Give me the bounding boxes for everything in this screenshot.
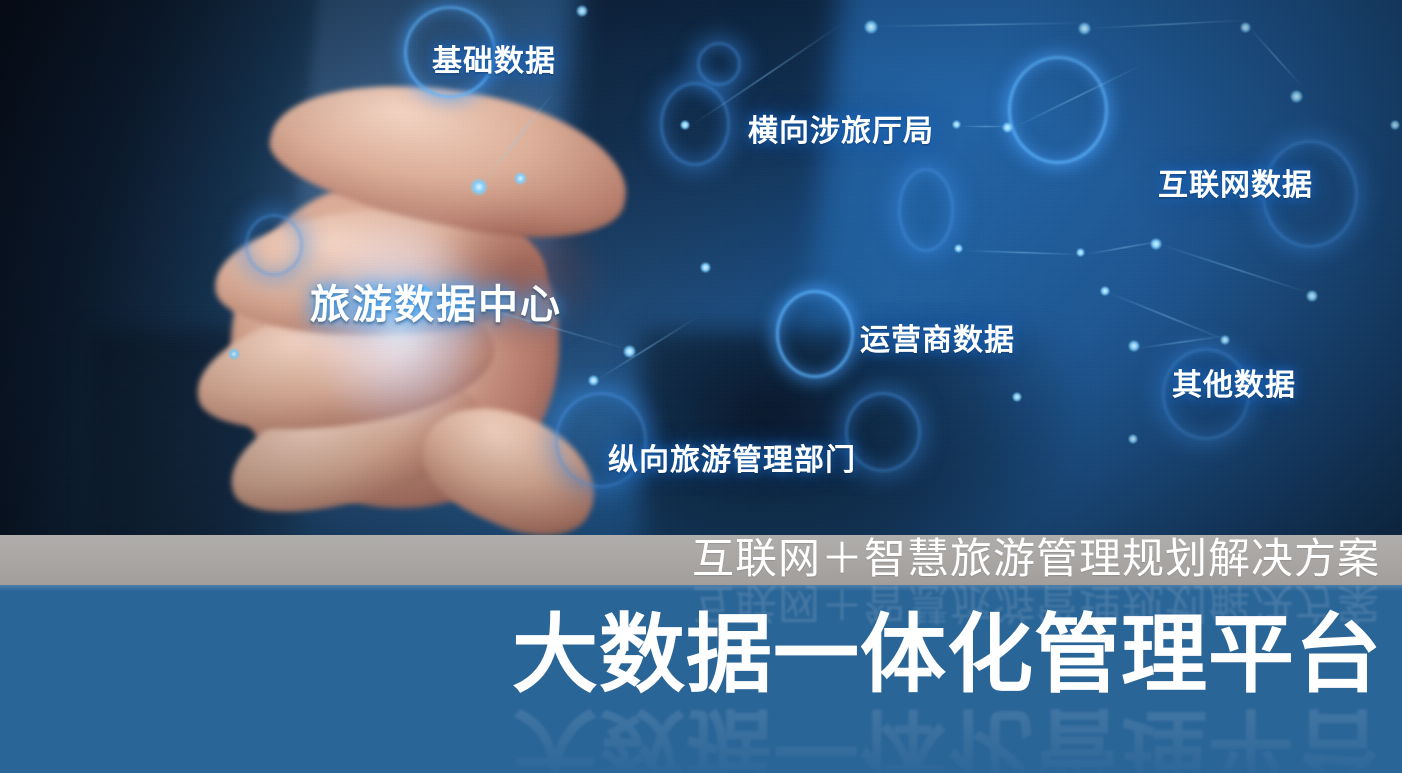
network-link xyxy=(1250,28,1303,87)
network-link xyxy=(1088,20,1248,29)
network-node-icon xyxy=(680,120,690,130)
hero-label-other-data: 其他数据 xyxy=(1172,360,1296,404)
network-node-icon xyxy=(1012,392,1022,402)
network-ring-icon xyxy=(660,82,730,166)
network-link xyxy=(1136,335,1227,349)
hero-label-horizontal-bureaus: 横向涉旅厅局 xyxy=(748,106,934,150)
network-ring-icon xyxy=(245,214,303,276)
subtitle-bar: 互联网＋智慧旅游管理规划解决方案 xyxy=(0,535,1402,585)
network-node-icon xyxy=(1290,90,1303,103)
network-link xyxy=(960,126,1012,127)
hero-photo: 旅游数据中心 基础数据 横向涉旅厅局 互联网数据 运营商数据 其他数据 纵向旅游… xyxy=(0,0,1402,535)
network-node-icon xyxy=(1076,248,1085,257)
slide-canvas: 旅游数据中心 基础数据 横向涉旅厅局 互联网数据 运营商数据 其他数据 纵向旅游… xyxy=(0,0,1402,773)
hero-label-internet-data: 互联网数据 xyxy=(1158,160,1313,204)
network-link xyxy=(1160,244,1311,294)
network-link xyxy=(963,250,1083,255)
network-node-icon xyxy=(1390,120,1400,130)
title-band: 互联网＋智慧旅游管理规划解决方案 大数据一体化管理平台 大数据一体化管理平台 xyxy=(0,585,1402,773)
network-node-icon xyxy=(954,244,963,253)
main-title-reflection: 大数据一体化管理平台 xyxy=(512,703,1382,773)
hero-label-operator-data: 运营商数据 xyxy=(860,315,1015,359)
hero-label-vertical-tourism-dept: 纵向旅游管理部门 xyxy=(608,435,856,479)
network-node-icon xyxy=(1100,286,1110,296)
hero-label-basic-data: 基础数据 xyxy=(432,36,556,80)
band-top-sheen xyxy=(0,585,1402,591)
network-node-icon xyxy=(228,348,240,360)
hero-center-label: 旅游数据中心 xyxy=(310,272,562,330)
network-ring-icon xyxy=(1008,56,1108,164)
network-link xyxy=(876,22,1086,27)
network-link xyxy=(1108,292,1229,342)
network-node-icon xyxy=(514,172,527,185)
network-ring-icon xyxy=(776,290,854,378)
banner-main-title: 大数据一体化管理平台 xyxy=(512,611,1382,699)
network-node-icon xyxy=(700,262,711,273)
network-node-icon xyxy=(952,120,961,129)
network-ring-icon xyxy=(845,392,921,472)
network-node-icon xyxy=(470,178,488,196)
banner-subtitle: 互联网＋智慧旅游管理规划解决方案 xyxy=(692,533,1380,585)
network-ring-icon xyxy=(697,42,741,86)
network-node-icon xyxy=(576,5,588,17)
network-node-icon xyxy=(588,375,599,386)
network-ring-icon xyxy=(898,168,954,252)
network-node-icon xyxy=(1128,340,1140,352)
network-node-icon xyxy=(1128,434,1138,444)
